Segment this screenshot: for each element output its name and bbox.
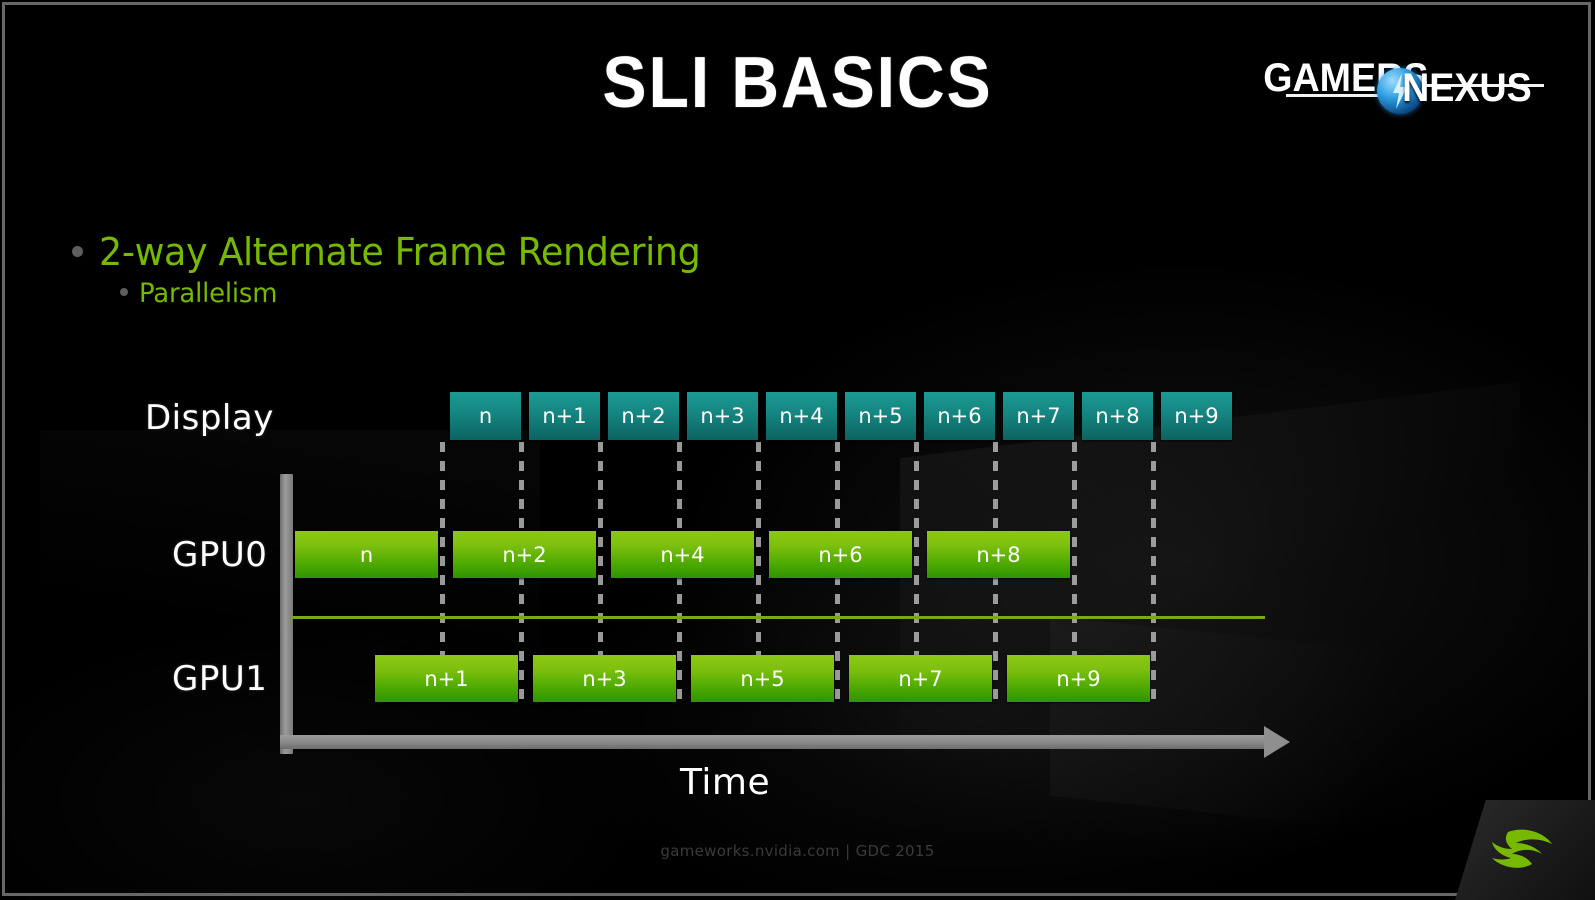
gpu1-frame-bar: n+9 [1007,655,1150,702]
gpu-divider-line [291,616,1265,619]
display-frame-block: n+4 [766,392,837,440]
display-frame-block: n+5 [845,392,916,440]
gpu0-frame-bar: n+6 [769,531,912,578]
gpu1-frame-bar: n+5 [691,655,834,702]
display-frame-block: n+6 [924,392,995,440]
display-frame-block: n+7 [1003,392,1074,440]
display-frame-block: n+2 [608,392,679,440]
row-label-gpu0: GPU0 [172,535,267,575]
display-frame-block: n [450,392,521,440]
display-frame-block: n+3 [687,392,758,440]
footer-attribution: gameworks.nvidia.com | GDC 2015 [0,842,1595,860]
row-label-display: Display [145,398,274,438]
axis-label-time: Time [680,762,770,803]
x-axis-line [280,735,1268,749]
nvidia-eye-icon [1478,818,1556,880]
gpu0-frame-bar: n+8 [927,531,1070,578]
gpu0-frame-bar: n+4 [611,531,754,578]
gpu0-frame-bar: n [295,531,438,578]
gpu1-frame-bar: n+7 [849,655,992,702]
gpu1-frame-bar: n+3 [533,655,676,702]
gpu0-frame-bar: n+2 [453,531,596,578]
x-axis-arrow-icon [1264,726,1290,758]
y-axis-line [280,474,293,754]
gpu1-frame-bar: n+1 [375,655,518,702]
display-frame-block: n+8 [1082,392,1153,440]
display-frame-block: n+1 [529,392,600,440]
dashed-guide-line [1151,442,1156,704]
row-label-gpu1: GPU1 [172,659,267,699]
display-frame-block: n+9 [1161,392,1232,440]
slide-canvas: SLI BASICS GAMERS NEXUS 2-way Alternate … [0,0,1595,900]
afr-timeline-diagram: Display GPU0 GPU1 nn+1n+2n+3n+4n+5n+6n+7… [0,0,1595,900]
